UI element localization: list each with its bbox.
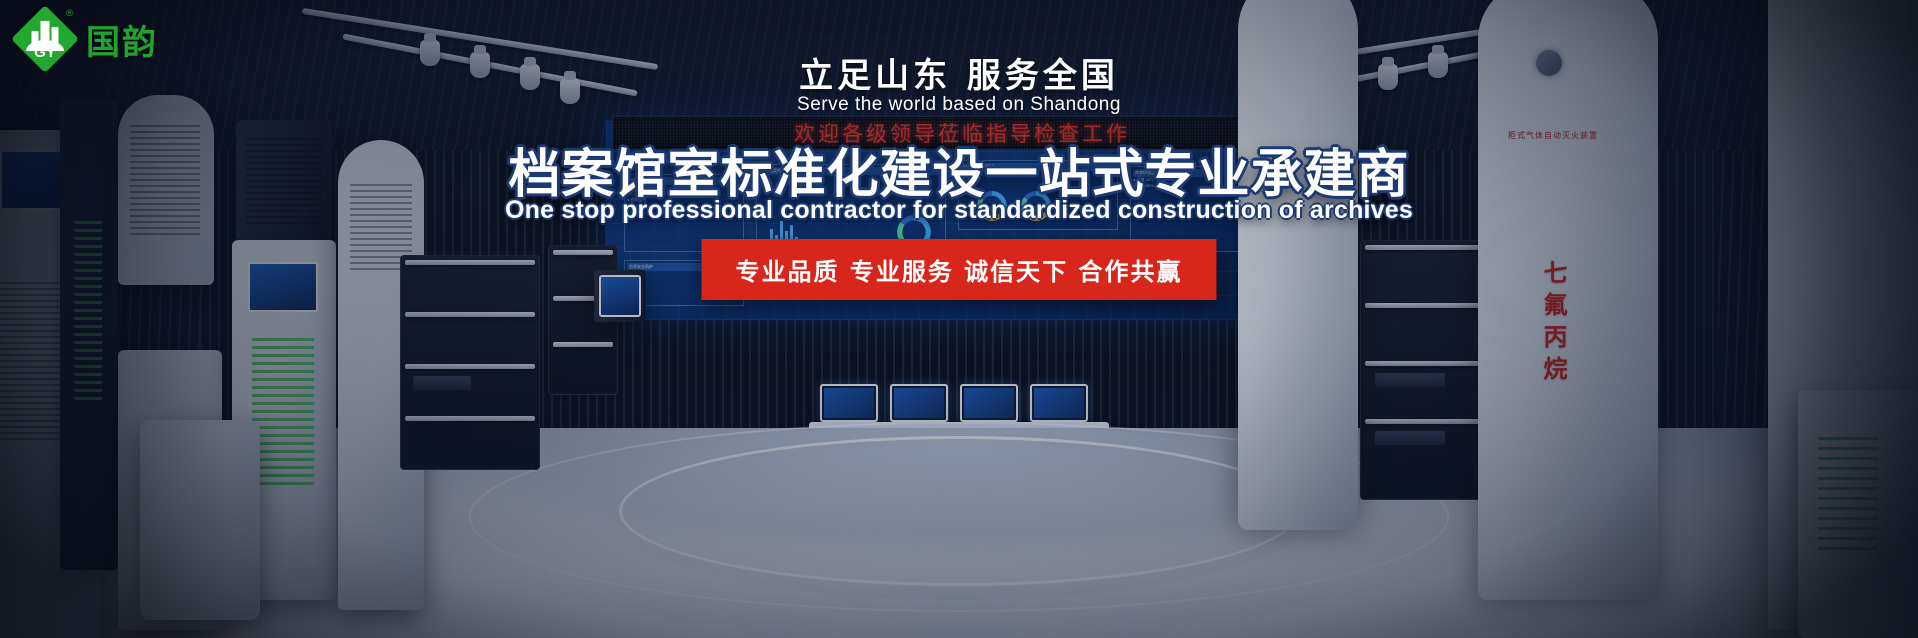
hero-banner: 档案管理系统 ● 库房温湿度 ● 门禁管理 ● 视频监控 智慧档案馆平台 档案数… bbox=[0, 0, 1918, 638]
tagline-english: Serve the world based on Shandong bbox=[0, 94, 1918, 116]
tagline-chinese: 立足山东 服务全国 bbox=[0, 48, 1918, 97]
headline-english: One stop professional contractor for sta… bbox=[0, 196, 1918, 225]
hero-overlay: GY ® 国韵 立足山东 服务全国 Serve the world based … bbox=[0, 0, 1918, 638]
cta-banner-button[interactable]: 专业品质 专业服务 诚信天下 合作共赢 bbox=[701, 239, 1216, 300]
trademark-symbol: ® bbox=[66, 8, 73, 18]
